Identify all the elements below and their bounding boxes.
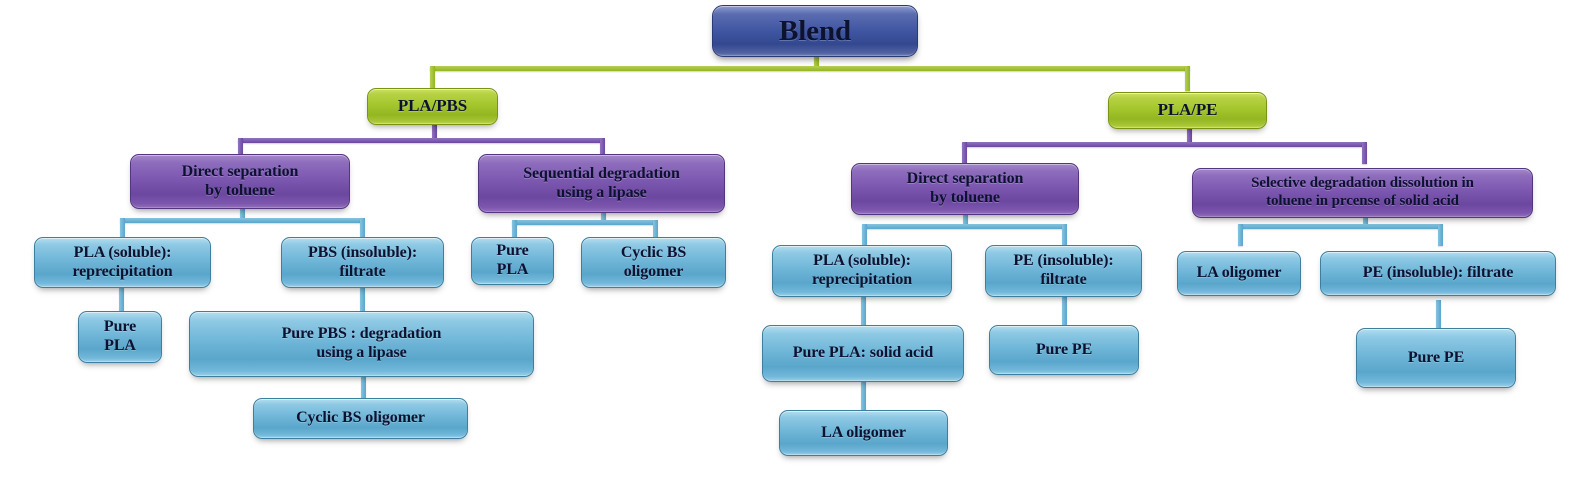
node-pure-pla-left-line1: Pure [85,318,155,337]
connector-directsep-pbs-bus [120,218,364,223]
flowchart-canvas: Blend PLA/PBS PLA/PE Direct separation b… [0,0,1583,481]
node-pla-pe-label: PLA/PE [1115,100,1260,120]
node-pure-pla-left[interactable]: Pure PLA [78,311,162,363]
node-pure-pbs-degradation-lipase[interactable]: Pure PBS : degradation using a lipase [189,311,534,377]
node-pe-pla-soluble-reprecipitation[interactable]: PLA (soluble): reprecipitation [772,245,952,297]
connector-to-la-oligomer-right [1238,224,1243,246]
node-direct-separation-toluene-pe[interactable]: Direct separation by toluene [851,163,1079,215]
node-sequential-degradation-lipase-line2: using a lipase [485,184,718,203]
connector-plasoluble-pe-to-purepla-solidacid [861,297,866,325]
connector-directsep-pe-bus [862,224,1066,229]
node-pbs-insoluble-filtrate-line1: PBS (insoluble): [288,244,437,263]
node-blend[interactable]: Blend [712,5,918,57]
node-cyclic-bs-oligomer-bottom[interactable]: Cyclic BS oligomer [253,398,468,439]
node-pure-pla-seq-line2: PLA [478,261,547,280]
node-pbs-insoluble-filtrate-line2: filtrate [288,263,437,282]
connector-to-pla-pe [1185,66,1190,91]
node-pure-pe-mid-label: Pure PE [996,341,1132,360]
node-selective-degradation-dissolution-line1: Selective degradation dissolution in [1199,175,1526,193]
node-pe-insoluble-filtrate-line1: PE (insoluble): [992,252,1135,271]
node-pla-soluble-reprecipitation-line1: PLA (soluble): [41,244,204,263]
connector-seqdeg-bus [512,220,657,225]
connector-seldeg-bus [1238,224,1442,229]
node-pure-pe-mid[interactable]: Pure PE [989,325,1139,375]
node-la-oligomer-bottom-label: LA oligomer [786,424,941,443]
node-cyclic-bs-oligomer-bottom-label: Cyclic BS oligomer [260,409,461,428]
node-pbs-insoluble-filtrate[interactable]: PBS (insoluble): filtrate [281,237,444,288]
node-pure-pbs-degradation-lipase-line1: Pure PBS : degradation [196,325,527,344]
node-pla-pbs[interactable]: PLA/PBS [367,88,498,125]
node-pe-insoluble-filtrate[interactable]: PE (insoluble): filtrate [985,245,1142,297]
node-pe-insoluble-filtrate-right-label: PE (insoluble): filtrate [1327,264,1549,283]
node-cyclic-bs-oligomer-seq-line1: Cyclic BS [588,244,719,263]
node-sequential-degradation-lipase[interactable]: Sequential degradation using a lipase [478,154,725,213]
node-cyclic-bs-oligomer-seq[interactable]: Cyclic BS oligomer [581,237,726,288]
connector-to-cyclic-bs-oligomer [653,220,658,238]
connector-to-selective-degradation [1362,142,1367,164]
node-direct-separation-toluene-pbs[interactable]: Direct separation by toluene [130,154,350,209]
node-la-oligomer-right-label: LA oligomer [1184,264,1294,283]
connector-purepla-to-la-oligomer [861,382,866,410]
node-direct-separation-toluene-pe-line1: Direct separation [858,170,1072,189]
node-pure-pe-bottom[interactable]: Pure PE [1356,328,1516,388]
connector-pbsinsoluble-to-purepbs [360,287,365,312]
connector-to-pbs-insoluble [360,218,365,238]
connector-purepbs-to-cyclicbs [361,376,366,398]
node-pure-pbs-degradation-lipase-line2: using a lipase [196,344,527,363]
connector-pla-pe-bus [962,142,1366,147]
connector-pla-pbs-bus [238,138,604,143]
node-pe-insoluble-filtrate-line2: filtrate [992,271,1135,290]
connector-peinsoluble-to-pure-pe [1062,297,1067,325]
connector-to-pure-pla-small [512,220,517,238]
node-selective-degradation-dissolution[interactable]: Selective degradation dissolution in tol… [1192,168,1533,218]
node-pe-pla-soluble-reprecipitation-line2: reprecipitation [779,271,945,290]
node-blend-label: Blend [719,14,911,48]
connector-to-pla-soluble [120,218,125,238]
node-pla-pbs-label: PLA/PBS [374,96,491,116]
connector-to-pe-pla-soluble [862,224,867,246]
node-pe-insoluble-filtrate-right[interactable]: PE (insoluble): filtrate [1320,251,1556,296]
connector-plasoluble-to-pure-pla [119,287,124,312]
node-direct-separation-toluene-pbs-line1: Direct separation [137,163,343,182]
connector-blend-bus [430,66,1190,71]
node-direct-separation-toluene-pbs-line2: by toluene [137,182,343,201]
node-pure-pla-seq-line1: Pure [478,242,547,261]
connector-to-pe-insoluble-right [1438,224,1443,246]
node-sequential-degradation-lipase-line1: Sequential degradation [485,165,718,184]
node-pla-soluble-reprecipitation-line2: reprecipitation [41,263,204,282]
node-direct-separation-toluene-pe-line2: by toluene [858,189,1072,208]
node-pla-soluble-reprecipitation[interactable]: PLA (soluble): reprecipitation [34,237,211,288]
connector-peinsoluble-right-to-pure-pe [1436,300,1441,328]
node-pure-pla-solid-acid[interactable]: Pure PLA: solid acid [762,325,964,382]
connector-to-pe-insoluble [1062,224,1067,246]
node-pure-pe-bottom-label: Pure PE [1363,349,1509,368]
node-selective-degradation-dissolution-line2: toluene in prcense of solid acid [1199,193,1526,211]
connector-to-direct-sep-toluene-pe [962,142,967,164]
node-pure-pla-left-line2: PLA [85,337,155,356]
node-pe-pla-soluble-reprecipitation-line1: PLA (soluble): [779,252,945,271]
node-pure-pla-seq[interactable]: Pure PLA [471,237,554,285]
node-la-oligomer-right[interactable]: LA oligomer [1177,251,1301,296]
node-pure-pla-solid-acid-label: Pure PLA: solid acid [769,344,957,363]
node-la-oligomer-bottom[interactable]: LA oligomer [779,410,948,456]
node-cyclic-bs-oligomer-seq-line2: oligomer [588,263,719,282]
node-pla-pe[interactable]: PLA/PE [1108,92,1267,129]
